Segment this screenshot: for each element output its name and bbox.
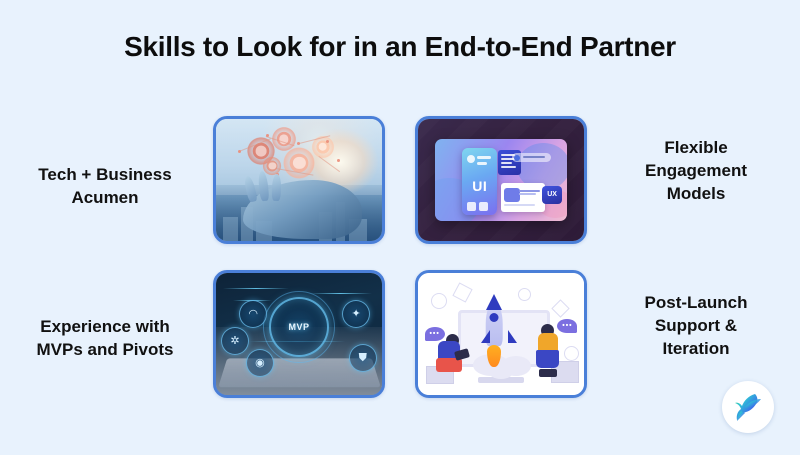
skill-label-experience-mvps-pivots: Experience with MVPs and Pivots (5, 316, 205, 362)
hummingbird-logo (722, 381, 774, 433)
rocket-nose (486, 294, 502, 310)
button-dot (479, 202, 488, 211)
text-line (504, 204, 535, 206)
button-dot (467, 202, 476, 211)
skill-label-line: Tech + Business (5, 164, 205, 187)
lightbulb-icon: ◉ (246, 349, 274, 377)
text-line (519, 190, 539, 192)
text-line (523, 156, 545, 158)
skill-label-line: Support & (596, 315, 796, 338)
skill-label-line: Experience with (5, 316, 205, 339)
skill-card-tech-business-acumen (213, 116, 385, 244)
hand-holding-gears-image (216, 119, 382, 241)
ui-ux-design-image: UI (418, 119, 584, 241)
network-node (238, 150, 241, 153)
skill-card-post-launch-support: ••• ••• (415, 270, 587, 398)
mvp-badge: MVP (288, 322, 309, 332)
thumbnail (504, 188, 520, 202)
settings-gear-icon: ✲ (221, 327, 249, 355)
avatar-dot (467, 155, 475, 163)
network-node (266, 134, 269, 137)
page-title: Skills to Look for in an End-to-End Part… (0, 31, 800, 63)
shield-icon: ⛊ (349, 344, 377, 372)
ux-badge: UX (542, 186, 562, 204)
skill-label-line: Models (596, 183, 796, 206)
rocket-launch-image: ••• ••• (418, 273, 584, 395)
skill-label-line: MVPs and Pivots (5, 339, 205, 362)
skill-label-tech-business-acumen: Tech + Business Acumen (5, 164, 205, 210)
decorative-square (452, 283, 472, 303)
decorative-circle (518, 288, 531, 301)
person-right-skirt (536, 350, 559, 368)
text-line (501, 162, 512, 164)
building-shape (223, 217, 238, 241)
text-line (501, 166, 516, 168)
gauge-icon: ◠ (239, 300, 267, 328)
info-card (501, 183, 545, 211)
skill-label-line: Iteration (596, 338, 796, 361)
chat-bubble-left: ••• (425, 327, 445, 341)
person-right-legs (539, 369, 557, 377)
text-line (477, 162, 487, 165)
skill-label-flexible-engagement-models: Flexible Engagement Models (596, 137, 796, 205)
chat-bubble-right: ••• (557, 319, 577, 333)
gear-icon (262, 156, 282, 176)
rocket-fin (508, 330, 517, 343)
rocket-fin (481, 330, 490, 343)
decorative-circle (564, 346, 579, 361)
decorative-circle (431, 293, 447, 309)
mvp-hud-image: MVP ◠ ✲ ◉ ✦ ⛊ (216, 273, 382, 395)
rocket-window (490, 313, 499, 322)
skill-card-flexible-engagement-models: UI (415, 116, 587, 244)
network-node (326, 140, 329, 143)
text-line (477, 156, 491, 159)
phone-mockup: UI (462, 148, 497, 214)
skill-label-line: Flexible (596, 137, 796, 160)
skill-label-line: Engagement (596, 160, 796, 183)
person-right-torso (538, 333, 558, 352)
skill-label-line: Post-Launch (596, 292, 796, 315)
skill-label-line: Acumen (5, 187, 205, 210)
search-pill (512, 153, 552, 162)
hud-beam (223, 288, 289, 289)
skill-card-experience-mvps-pivots: MVP ◠ ✲ ◉ ✦ ⛊ (213, 270, 385, 398)
ui-badge: UI (462, 178, 497, 194)
text-line (519, 193, 536, 195)
skill-label-post-launch-support: Post-Launch Support & Iteration (596, 292, 796, 360)
hud-beam (309, 293, 372, 294)
person-left-legs (436, 358, 462, 372)
design-canvas: UI (435, 139, 568, 222)
rocket-icon: ✦ (342, 300, 370, 328)
pill-dot (514, 155, 520, 161)
decorative-square (551, 300, 569, 318)
infographic-root: Skills to Look for in an End-to-End Part… (0, 0, 800, 455)
